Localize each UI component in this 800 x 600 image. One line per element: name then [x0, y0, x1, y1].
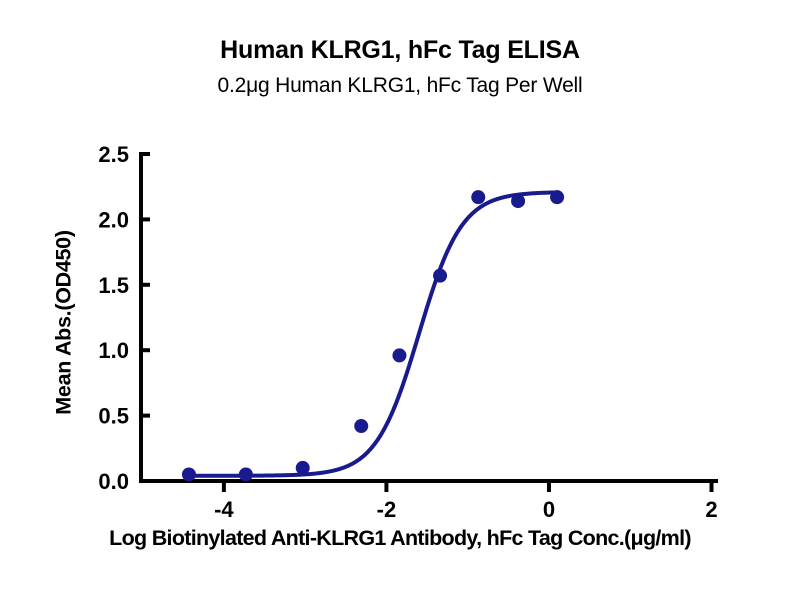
data-point-marker: [239, 467, 253, 481]
data-point-marker: [471, 190, 485, 204]
sigmoid-fit-path: [189, 192, 557, 475]
data-point-marker: [296, 461, 310, 475]
data-point-marker: [354, 419, 368, 433]
data-point-marker: [550, 190, 564, 204]
y-tick-label-group: 0.00.51.01.52.02.5: [98, 142, 129, 494]
data-point-marker: [511, 194, 525, 208]
x-tick-label: 2: [705, 497, 717, 522]
x-tick-label: 0: [543, 497, 555, 522]
fit-curve: [189, 192, 557, 475]
y-tick-label: 0.5: [98, 404, 129, 429]
data-point-group: [182, 190, 564, 481]
y-tick-label: 2.0: [98, 207, 129, 232]
axis-spines: [139, 152, 718, 492]
data-point-marker: [392, 348, 406, 362]
plot-area: 0.00.51.01.52.02.5 -4-202: [0, 0, 800, 600]
y-tick-label: 1.0: [98, 338, 129, 363]
data-point-marker: [182, 467, 196, 481]
y-tick-label: 1.5: [98, 273, 129, 298]
data-point-marker: [433, 269, 447, 283]
x-tick-label-group: -4-202: [214, 497, 718, 522]
y-tick-label: 2.5: [98, 142, 129, 167]
x-tick-label: -4: [214, 497, 234, 522]
elisa-chart-figure: Human KLRG1, hFc Tag ELISA 0.2μg Human K…: [0, 0, 800, 600]
x-tick-label: -2: [377, 497, 397, 522]
y-tick-label: 0.0: [98, 469, 129, 494]
